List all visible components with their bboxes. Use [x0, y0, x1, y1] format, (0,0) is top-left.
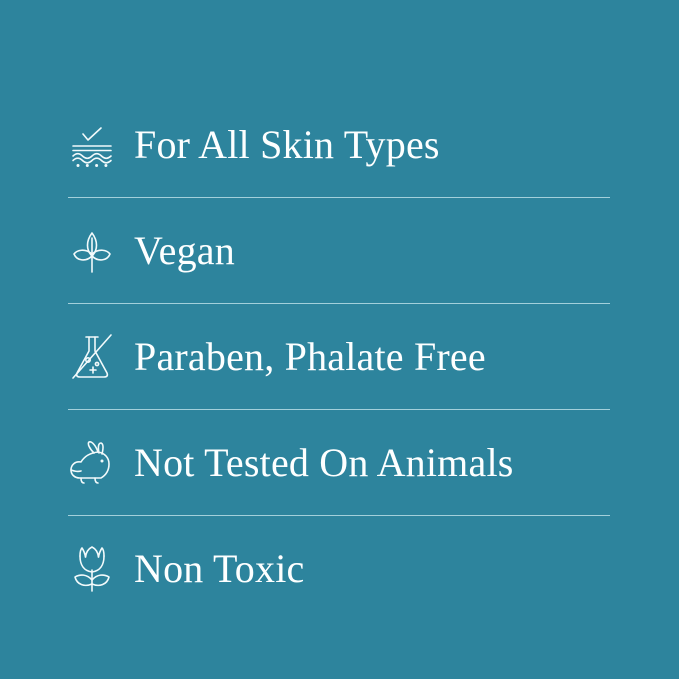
list-item: Non Toxic: [68, 516, 610, 622]
feature-label: Paraben, Phalate Free: [134, 337, 486, 377]
feature-label: Non Toxic: [134, 549, 304, 589]
product-claims-panel: For All Skin Types Vegan: [0, 0, 679, 679]
crossed-out-flask-icon: [68, 331, 116, 383]
leaf-sprout-icon: [68, 225, 116, 277]
list-item: Paraben, Phalate Free: [68, 304, 610, 410]
feature-label: For All Skin Types: [134, 125, 440, 165]
feature-label: Vegan: [134, 231, 235, 271]
rabbit-icon: [68, 437, 116, 489]
list-item: Not Tested On Animals: [68, 410, 610, 516]
list-item: Vegan: [68, 198, 610, 304]
skin-layers-check-icon: [68, 119, 116, 171]
feature-label: Not Tested On Animals: [134, 443, 514, 483]
feature-claims-list: For All Skin Types Vegan: [68, 92, 610, 622]
list-item: For All Skin Types: [68, 92, 610, 198]
tulip-flower-icon: [68, 543, 116, 595]
